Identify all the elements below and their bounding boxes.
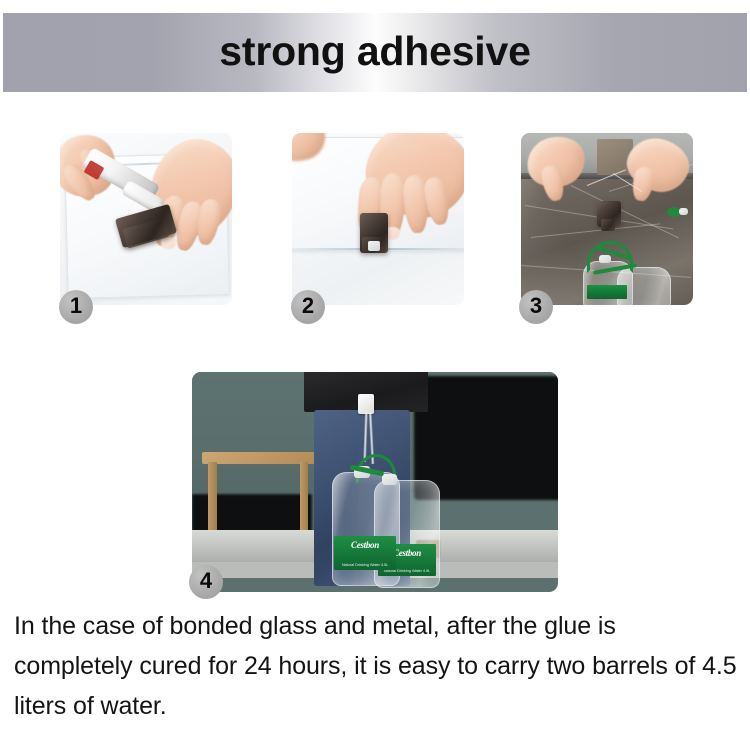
step-4-photo: Cestbon Natural Drinking Water 4.5L Cest…	[192, 372, 558, 592]
header-banner: strong adhesive	[3, 13, 747, 92]
step-2-number: 2	[302, 295, 314, 317]
step-2-photo	[292, 133, 464, 305]
step-1-badge: 1	[59, 290, 93, 324]
step-3-number: 3	[530, 295, 542, 317]
step-3-badge: 3	[519, 290, 553, 324]
bottle-sub-text-front: Natural Drinking Water 4.5L	[334, 562, 396, 567]
step-3-photo	[521, 133, 693, 305]
metal-hook-highlight	[368, 241, 380, 251]
page-title: strong adhesive	[219, 31, 530, 72]
dark-background-object	[414, 376, 558, 500]
step-1-photo	[60, 133, 232, 305]
bottle-brand-text-front: Cestbon	[334, 540, 396, 550]
step-1-number: 1	[70, 295, 82, 317]
step-2-badge: 2	[291, 290, 325, 324]
description-caption: In the case of bonded glass and metal, a…	[14, 606, 738, 726]
bonded-hook-lip	[601, 219, 615, 231]
step-4-number: 4	[200, 570, 212, 592]
bottle-label-front: Cestbon Natural Drinking Water 4.5L	[334, 536, 396, 570]
bottle-cap	[599, 255, 611, 263]
bottle-cap-back	[382, 474, 397, 485]
bottle-label	[587, 285, 627, 299]
clip-tip	[679, 208, 688, 215]
step-4-badge: 4	[189, 565, 223, 599]
table-leg	[300, 462, 308, 534]
